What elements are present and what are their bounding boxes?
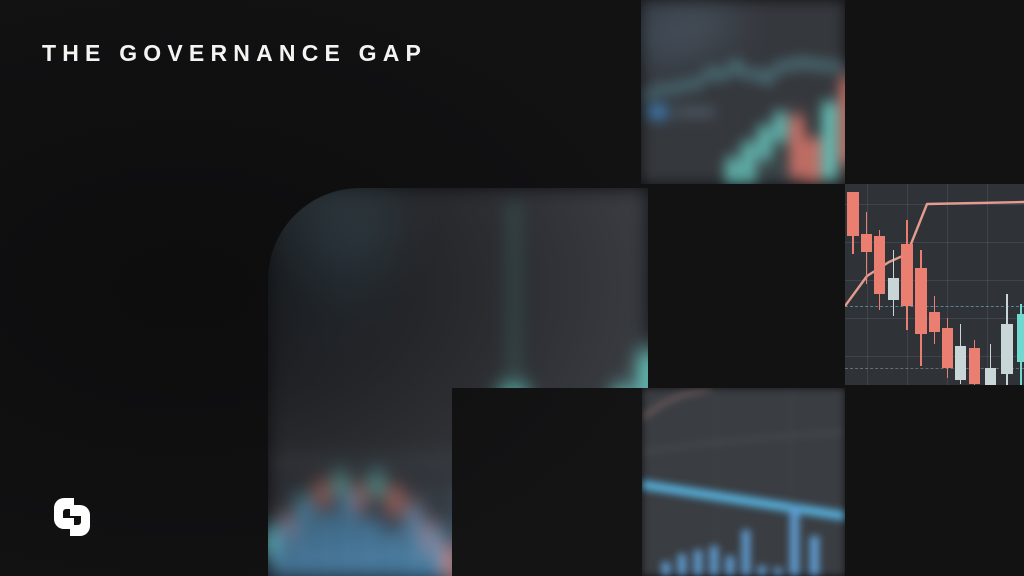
candle: [901, 220, 913, 330]
candle: [1017, 304, 1024, 385]
candle: [775, 108, 786, 184]
candle: [942, 318, 953, 378]
volume-bar: [428, 526, 444, 576]
candle: [847, 192, 859, 254]
volume-bar: [384, 530, 400, 576]
volume-bar: [406, 506, 422, 576]
page-title: THE GOVERNANCE GAP: [42, 42, 427, 65]
top-candlestick-tile: [641, 0, 845, 184]
candle: [888, 250, 899, 316]
candle: [929, 296, 940, 344]
volume-bars-tile: [642, 388, 845, 576]
volume-bar: [742, 530, 750, 576]
candle: [841, 64, 845, 184]
candle: [370, 464, 383, 506]
candle: [759, 122, 770, 184]
volume-bar: [678, 554, 686, 576]
volume-bar: [810, 536, 819, 576]
volume-bar: [662, 562, 670, 576]
volume-bar: [758, 566, 766, 576]
poster-canvas: THE GOVERNANCE GAP: [0, 0, 1024, 576]
volume-bar: [274, 520, 290, 576]
volume-bar: [318, 512, 334, 576]
tile-chart-surface: [641, 0, 845, 184]
candle: [861, 212, 872, 284]
candle: [727, 150, 738, 184]
candle: [955, 324, 966, 384]
volume-bar: [340, 492, 356, 576]
volume-bar: [694, 550, 702, 576]
right-candlestick-tile: [845, 184, 1024, 385]
interlocking-links-icon: [44, 492, 100, 542]
candle: [874, 230, 885, 310]
candle: [1001, 294, 1013, 385]
candle: [743, 136, 754, 184]
candle: [915, 250, 927, 366]
volume-bar: [710, 546, 718, 576]
volume-bar: [726, 556, 734, 576]
dark-filler-tile: [452, 388, 642, 576]
brand-logo[interactable]: [44, 492, 100, 542]
volume-bar: [790, 506, 799, 576]
candle: [388, 478, 401, 524]
chart-label-text: [675, 108, 715, 116]
candle: [823, 98, 836, 184]
candle: [969, 340, 980, 385]
candle: [807, 136, 819, 184]
candle: [985, 344, 996, 385]
tile-chart-surface: [845, 184, 1024, 385]
candle: [791, 108, 803, 184]
chart-label-chip: [649, 106, 667, 118]
tile-chart-surface: [642, 388, 845, 576]
volume-bar: [362, 518, 378, 576]
volume-bar: [774, 568, 782, 576]
volume-bar: [296, 500, 312, 576]
